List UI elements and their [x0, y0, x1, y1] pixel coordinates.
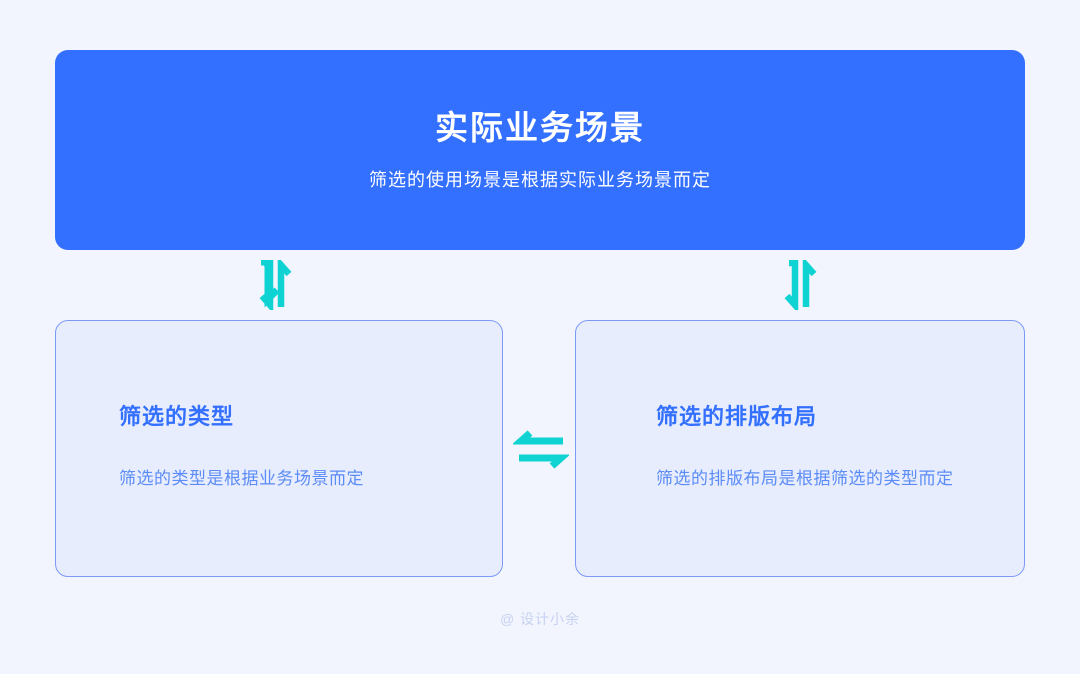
card-title: 筛选的类型	[119, 403, 502, 432]
card-body: 筛选的排版布局是根据筛选的类型而定	[656, 464, 984, 494]
down-up-arrows-icon	[778, 260, 824, 310]
banner-scenario: 实际业务场景 筛选的使用场景是根据实际业务场景而定	[55, 50, 1025, 250]
swap-horizontal-arrows-icon	[513, 428, 569, 472]
connector-left	[253, 260, 299, 310]
connector-right	[778, 260, 824, 310]
down-up-arrows-icon	[253, 260, 299, 310]
card-filter-type: 筛选的类型 筛选的类型是根据业务场景而定	[55, 320, 503, 577]
card-body: 筛选的类型是根据业务场景而定	[119, 464, 502, 494]
banner-subtitle: 筛选的使用场景是根据实际业务场景而定	[369, 168, 711, 193]
card-title: 筛选的排版布局	[656, 403, 984, 432]
watermark: @ 设计小余	[0, 612, 1080, 626]
connector-center	[513, 428, 569, 472]
card-filter-layout: 筛选的排版布局 筛选的排版布局是根据筛选的类型而定	[575, 320, 1025, 577]
banner-title: 实际业务场景	[435, 107, 645, 150]
diagram-canvas: 实际业务场景 筛选的使用场景是根据实际业务场景而定 筛选的类型 筛选的类型是根据…	[0, 0, 1080, 674]
